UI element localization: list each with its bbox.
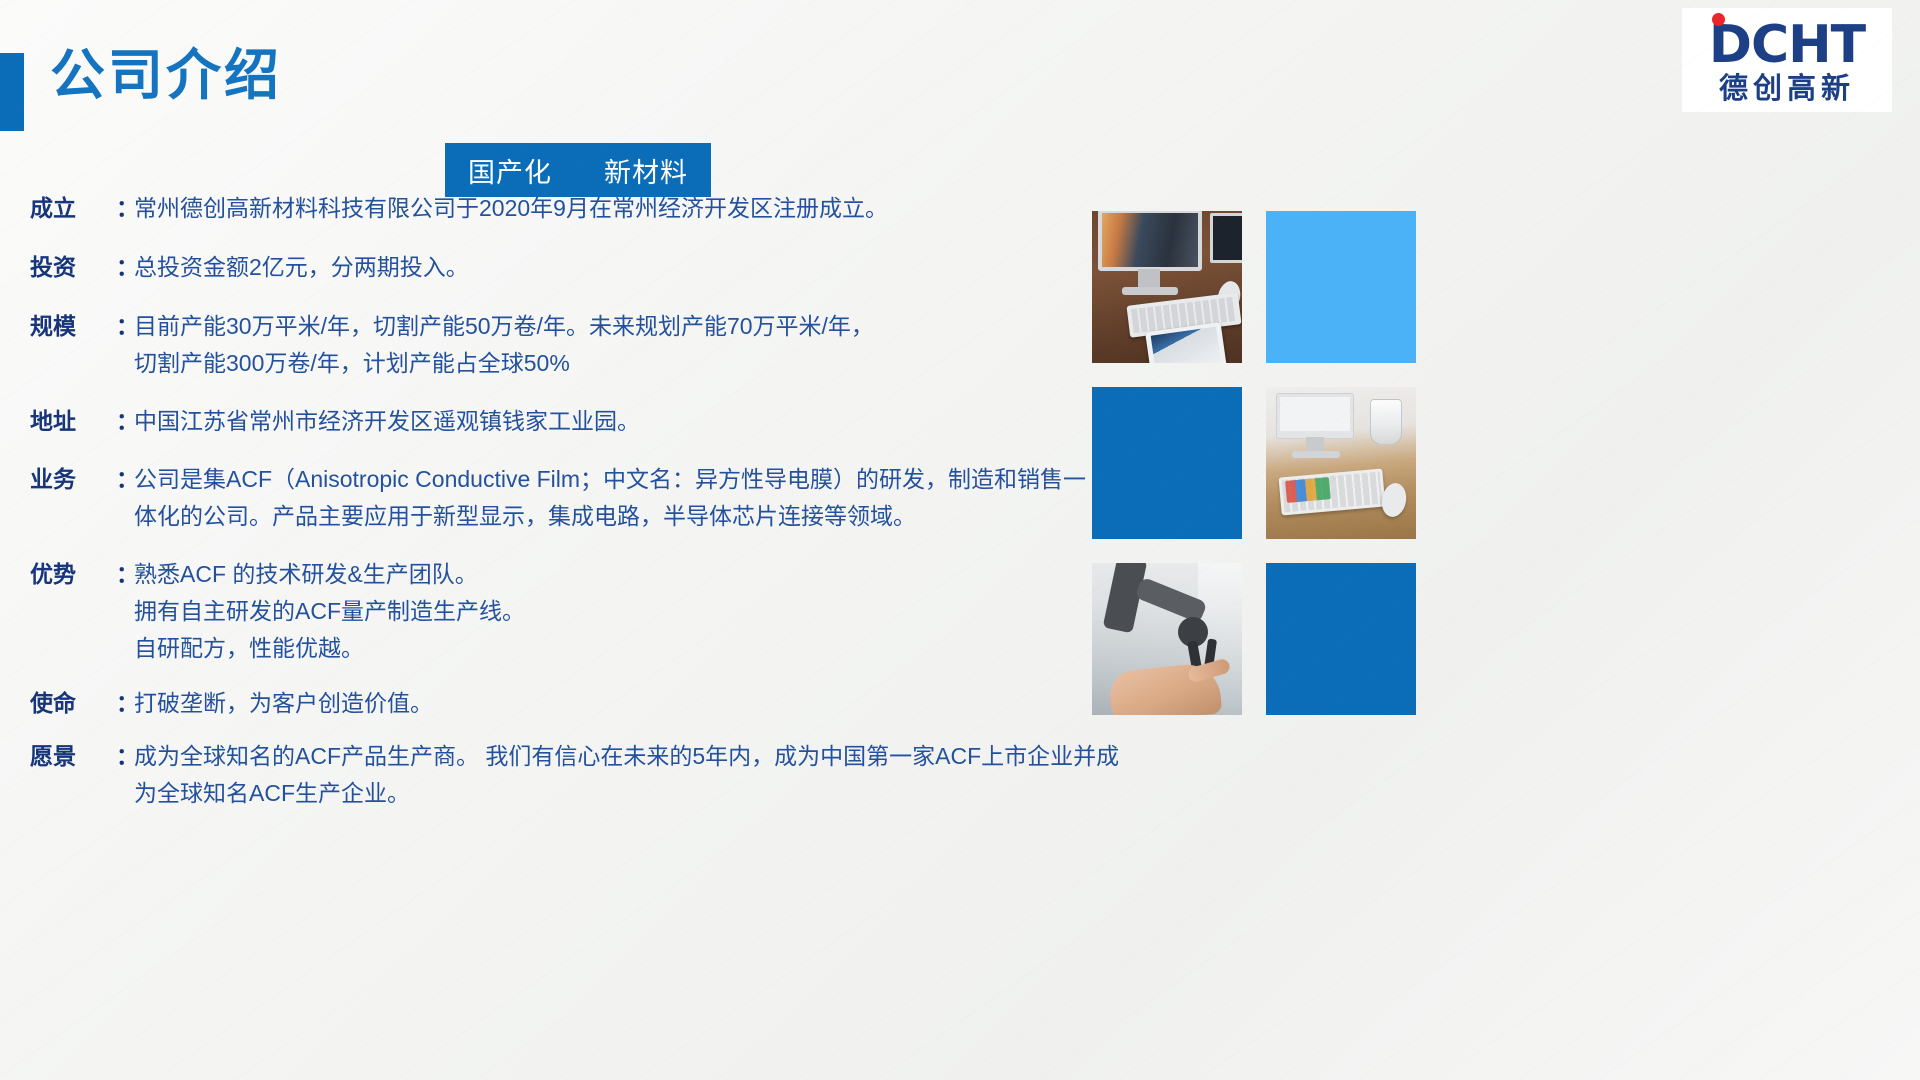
info-body: 目前产能30万平米/年，切割产能50万卷/年。未来规划产能70万平米/年， 切割… [134, 308, 1090, 382]
info-body: 打破垄断，为客户创造价值。 [134, 685, 1090, 722]
mosaic-photo-imac-desktop [1092, 211, 1242, 363]
title-accent-bar [0, 53, 24, 131]
company-info-list: 成立 ： 常州德创高新材料科技有限公司于2020年9月在常州经济开发区注册成立。… [30, 190, 1090, 812]
info-line: 体化的公司。产品主要应用于新型显示，集成电路，半导体芯片连接等领域。 [134, 498, 1090, 535]
info-row-guimo: 规模 ： 目前产能30万平米/年，切割产能50万卷/年。未来规划产能70万平米/… [30, 308, 1090, 382]
info-row-yewu: 业务 ： 公司是集ACF（Anisotropic Conductive Film… [30, 461, 1090, 535]
info-line: 切割产能300万卷/年，计划产能占全球50% [134, 345, 1090, 382]
info-separator: ： [116, 556, 134, 593]
info-separator: ： [116, 403, 134, 440]
info-body: 成为全球知名的ACF产品生产商。 我们有信心在未来的5年内，成为中国第一家ACF… [134, 738, 1119, 812]
info-label: 成立 [30, 190, 116, 227]
mosaic-photo-desk-workspace [1266, 387, 1416, 539]
image-mosaic [1092, 211, 1422, 715]
info-body: 熟悉ACF 的技术研发&生产团队。 拥有自主研发的ACF量产制造生产线。 自研配… [134, 556, 1090, 667]
logo-chinese-name: 德创高新 [1719, 75, 1855, 104]
logo-red-dot-icon [1712, 13, 1725, 26]
mosaic-color-block-blue-left [1092, 387, 1242, 539]
info-line: 打破垄断，为客户创造价值。 [134, 685, 1090, 722]
info-label: 规模 [30, 308, 116, 345]
info-line: 熟悉ACF 的技术研发&生产团队。 [134, 556, 1090, 593]
info-line: 自研配方，性能优越。 [134, 630, 1090, 667]
info-separator: ： [116, 685, 134, 722]
info-line: 公司是集ACF（Anisotropic Conductive Film；中文名：… [134, 461, 1090, 498]
info-row-dizhi: 地址 ： 中国江苏省常州市经济开发区遥观镇钱家工业园。 [30, 403, 1090, 440]
monitor-icon [1098, 211, 1202, 271]
mosaic-color-block-blue-right [1266, 563, 1416, 715]
info-line: 目前产能30万平米/年，切割产能50万卷/年。未来规划产能70万平米/年， [134, 308, 1090, 345]
info-body: 公司是集ACF（Anisotropic Conductive Film；中文名：… [134, 461, 1090, 535]
info-label: 地址 [30, 403, 116, 440]
info-label: 优势 [30, 556, 116, 593]
info-line: 常州德创高新材料科技有限公司于2020年9月在常州经济开发区注册成立。 [134, 190, 1090, 227]
monitor-base [1292, 451, 1340, 458]
info-body: 总投资金额2亿元，分两期投入。 [134, 249, 1090, 286]
robot-arm-lower [1134, 577, 1207, 624]
info-row-shiming: 使命 ： 打破垄断，为客户创造价值。 [30, 685, 1090, 722]
info-row-touzi: 投资 ： 总投资金额2亿元，分两期投入。 [30, 249, 1090, 286]
info-row-yuanjing: 愿景 ： 成为全球知名的ACF产品生产商。 我们有信心在未来的5年内，成为中国第… [30, 738, 1090, 812]
mosaic-photo-robotic-arm [1092, 563, 1242, 715]
info-label: 使命 [30, 685, 116, 722]
company-logo: DCHT 德创高新 [1682, 8, 1892, 112]
logo-wordmark: DCHT [1709, 19, 1865, 71]
tagline-banner: 国产化 新材料 [445, 143, 711, 197]
info-line: 为全球知名ACF生产企业。 [134, 775, 1119, 812]
monitor-icon [1276, 393, 1354, 439]
info-line: 中国江苏省常州市经济开发区遥观镇钱家工业园。 [134, 403, 1090, 440]
info-line: 总投资金额2亿元，分两期投入。 [134, 249, 1090, 286]
info-body: 中国江苏省常州市经济开发区遥观镇钱家工业园。 [134, 403, 1090, 440]
info-separator: ： [116, 249, 134, 286]
info-row-chengli: 成立 ： 常州德创高新材料科技有限公司于2020年9月在常州经济开发区注册成立。 [30, 190, 1090, 227]
info-line: 成为全球知名的ACF产品生产商。 我们有信心在未来的5年内，成为中国第一家ACF… [134, 738, 1119, 775]
logo-mark-text: DCHT [1709, 15, 1865, 75]
banner-right-label: 新材料 [578, 151, 714, 190]
page-title: 公司介绍 [50, 48, 282, 103]
mosaic-color-block-light-blue [1266, 211, 1416, 363]
monitor-base [1122, 287, 1178, 295]
banner-left-label: 国产化 [442, 151, 578, 190]
info-separator: ： [116, 190, 134, 227]
info-label: 投资 [30, 249, 116, 286]
info-separator: ： [116, 461, 134, 498]
monitor-stand [1138, 269, 1160, 289]
colored-keys [1285, 477, 1331, 503]
info-separator: ： [116, 738, 134, 775]
info-label: 愿景 [30, 738, 116, 775]
glass-icon [1370, 399, 1402, 445]
info-line: 拥有自主研发的ACF量产制造生产线。 [134, 593, 1090, 630]
second-monitor-icon [1210, 213, 1242, 263]
info-body: 常州德创高新材料科技有限公司于2020年9月在常州经济开发区注册成立。 [134, 190, 1090, 227]
info-row-youshi: 优势 ： 熟悉ACF 的技术研发&生产团队。 拥有自主研发的ACF量产制造生产线… [30, 556, 1090, 667]
info-separator: ： [116, 308, 134, 345]
info-label: 业务 [30, 461, 116, 498]
